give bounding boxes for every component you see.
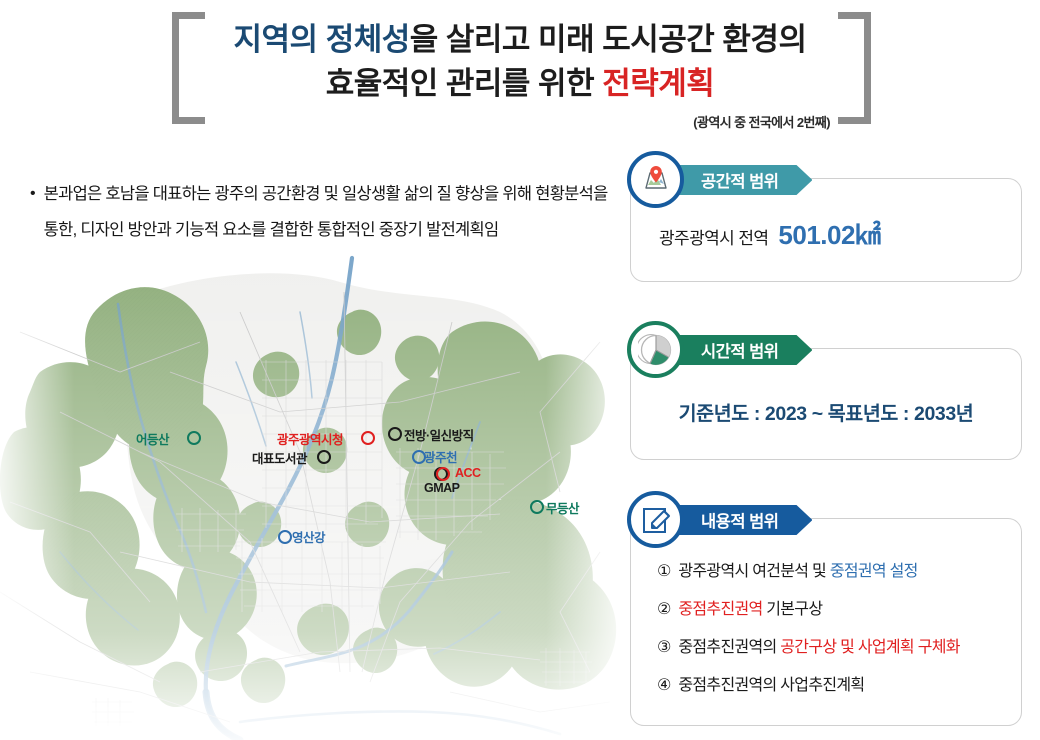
panel-temporal-banner: 시간적 범위	[671, 335, 812, 365]
map-marker-dot	[388, 427, 402, 441]
panel-spatial-body: 광주광역시 전역 501.02㎢	[631, 215, 1021, 252]
content-item-text: 광주광역시 여건분석 및	[678, 563, 829, 580]
pencil-note-icon	[627, 491, 684, 548]
content-scope-item: ① 광주광역시 여건분석 및 중점권역 설정	[657, 553, 1021, 591]
map-label: ACC	[455, 466, 481, 480]
content-item-number: ②	[657, 601, 674, 618]
bracket-left-icon	[172, 12, 205, 124]
map-marker-dot	[278, 530, 292, 544]
bracket-right-icon	[838, 12, 871, 124]
map-marker-dot	[412, 450, 426, 464]
map-edge-fade	[0, 252, 620, 740]
map-label: 무등산	[546, 498, 579, 517]
title-line1-highlight: 지역의 정체성	[234, 22, 410, 57]
title-subtitle: (광역시 중 전국에서 2번째)	[440, 112, 830, 131]
panel-content-banner: 내용적 범위	[671, 505, 812, 535]
panel-spatial-text: 광주광역시 전역	[659, 224, 768, 249]
content-item-highlight: 중점권역 설정	[830, 563, 918, 580]
gwangju-topographic-map: 어등산광주광역시청대표도서관전방·일신방직광주천GMAPACC영산강무등산	[0, 252, 620, 740]
map-marker-dot	[317, 450, 331, 464]
map-label: 어등산	[136, 429, 169, 448]
content-item-text: 중점추진권역의	[678, 639, 780, 656]
intro-text: 본과업은 호남을 대표하는 광주의 공간환경 및 일상생활 삶의 질 향상을 위…	[44, 176, 615, 248]
map-marker-dot	[530, 500, 544, 514]
content-item-text: 중점추진권역의 사업추진계획	[678, 677, 864, 694]
panel-content-body: ① 광주광역시 여건분석 및 중점권역 설정② 중점추진권역 기본구상③ 중점추…	[631, 553, 1021, 705]
title-line2-highlight: 전략계획	[602, 66, 714, 101]
content-scope-item: ② 중점추진권역 기본구상	[657, 591, 1021, 629]
panel-temporal-scope: 시간적 범위 기준년도 : 2023 ~ 목표년도 : 2033년	[630, 348, 1022, 460]
map-marker-dot	[187, 431, 201, 445]
map-label: 대표도서관	[252, 448, 307, 467]
panel-temporal-body: 기준년도 : 2023 ~ 목표년도 : 2033년	[631, 397, 1021, 426]
content-scope-item: ④ 중점추진권역의 사업추진계획	[657, 667, 1021, 705]
content-item-number: ③	[657, 639, 674, 656]
map-label: GMAP	[424, 481, 460, 495]
content-scope-item: ③ 중점추진권역의 공간구상 및 사업계획 구체화	[657, 629, 1021, 667]
intro-bullet: • 본과업은 호남을 대표하는 광주의 공간환경 및 일상생활 삶의 질 향상을…	[30, 176, 615, 248]
title-line2-lead: 효율적인 관리를 위한	[326, 66, 603, 101]
map-marker-dot	[361, 431, 375, 445]
panel-content-scope: 내용적 범위 ① 광주광역시 여건분석 및 중점권역 설정② 중점추진권역 기본…	[630, 518, 1022, 726]
panel-temporal-banner-label: 시간적 범위	[701, 338, 778, 362]
bullet-marker-icon: •	[30, 176, 36, 248]
content-item-number: ①	[657, 563, 674, 580]
content-item-number: ④	[657, 677, 674, 694]
map-svg	[0, 252, 620, 740]
title-line-2: 효율적인 관리를 위한 전략계획	[210, 62, 830, 106]
panel-spatial-banner-label: 공간적 범위	[701, 168, 778, 192]
content-item-text: 기본구상	[763, 601, 823, 618]
title-line-1: 지역의 정체성을 살리고 미래 도시공간 환경의	[210, 18, 830, 62]
panel-spatial-banner: 공간적 범위	[671, 165, 812, 195]
map-pin-icon	[627, 151, 684, 208]
title-block: 지역의 정체성을 살리고 미래 도시공간 환경의 효율적인 관리를 위한 전략계…	[0, 0, 1040, 150]
pie-chart-icon	[627, 321, 684, 378]
map-label: 전방·일신방직	[404, 425, 474, 444]
title-line1-rest: 을 살리고 미래 도시공간 환경의	[410, 22, 807, 57]
content-item-highlight: 공간구상 및 사업계획 구체화	[780, 639, 959, 656]
map-marker-dot	[436, 467, 450, 481]
map-label: 광주광역시청	[277, 429, 343, 448]
panel-content-banner-label: 내용적 범위	[701, 508, 778, 532]
panel-spatial-value: 501.02㎢	[778, 215, 880, 252]
content-item-highlight: 중점추진권역	[678, 601, 762, 618]
panel-spatial-scope: 공간적 범위 광주광역시 전역 501.02㎢	[630, 178, 1022, 282]
map-label: 영산강	[292, 527, 325, 546]
page-title: 지역의 정체성을 살리고 미래 도시공간 환경의 효율적인 관리를 위한 전략계…	[210, 18, 830, 106]
map-label: 광주천	[424, 447, 457, 466]
